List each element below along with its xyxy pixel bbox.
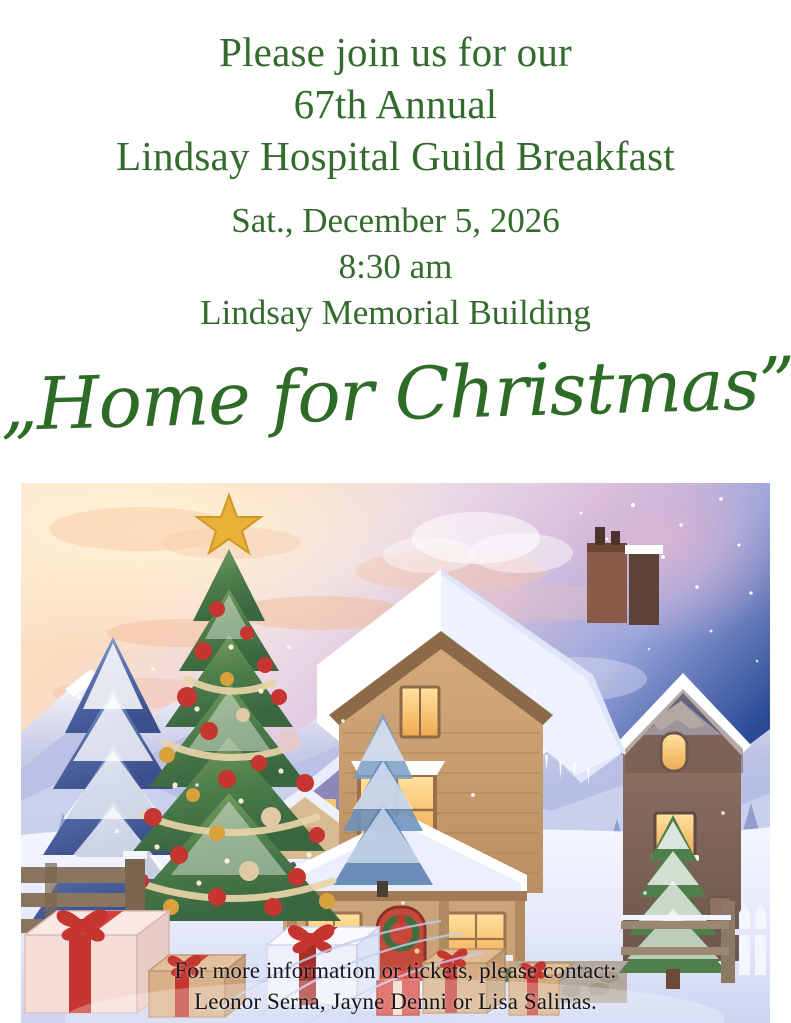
winter-scene-svg xyxy=(21,483,770,1023)
page-title: Please join us for our 67th Annual Linds… xyxy=(0,0,791,182)
headline-line-3: Lindsay Hospital Guild Breakfast xyxy=(0,130,791,182)
headline-line-1: Please join us for our xyxy=(0,26,791,78)
event-time: 8:30 am xyxy=(0,244,791,290)
chimney-right xyxy=(629,549,659,625)
winter-scene-illustration xyxy=(21,483,770,1023)
headline-line-2: 67th Annual xyxy=(0,78,791,130)
chimney-left-cap xyxy=(587,543,627,552)
event-date: Sat., December 5, 2026 xyxy=(0,198,791,244)
chimney-pot xyxy=(611,531,620,545)
wreath-bow xyxy=(397,915,406,924)
contact-line-2: Leonor Serna, Jayne Denni or Lisa Salina… xyxy=(0,986,791,1017)
christmas-breakfast-flyer: Please join us for our 67th Annual Linds… xyxy=(0,0,791,1023)
theme-script-title: „Home for Christmas” xyxy=(0,325,791,447)
house-window-lit xyxy=(661,733,687,771)
chimney-pot xyxy=(595,527,605,545)
flyer-text-block: Please join us for our 67th Annual Linds… xyxy=(0,0,791,436)
contact-line-1: For more information or tickets, please … xyxy=(0,955,791,986)
event-details: Sat., December 5, 2026 8:30 am Lindsay M… xyxy=(0,182,791,336)
chimney-left xyxy=(587,543,627,623)
chimney-right-snow xyxy=(625,545,663,554)
door-knob xyxy=(414,948,419,953)
contact-info: For more information or tickets, please … xyxy=(0,955,791,1017)
